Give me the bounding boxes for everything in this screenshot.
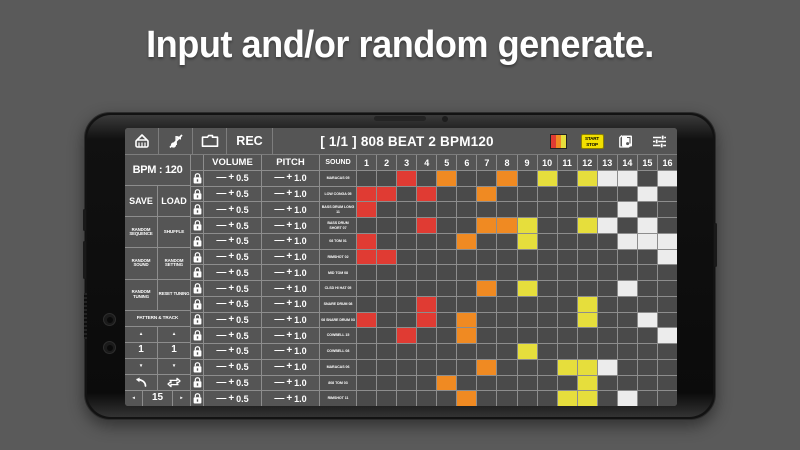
step-cell-2-14[interactable]: [618, 187, 638, 202]
pitch-minus-button[interactable]: —: [274, 346, 284, 356]
pitch-control[interactable]: —+1.0: [262, 360, 320, 375]
step-cell-14-2[interactable]: [377, 376, 397, 391]
step-cell-6-8[interactable]: [497, 250, 517, 265]
step-header-15[interactable]: 15: [638, 155, 658, 170]
volume-plus-button[interactable]: +: [228, 362, 234, 372]
lock-icon[interactable]: [191, 265, 204, 280]
step-cell-12-13[interactable]: [598, 344, 618, 359]
lock-icon[interactable]: [191, 328, 204, 343]
volume-plus-button[interactable]: +: [228, 284, 234, 294]
step-cell-11-10[interactable]: [538, 328, 558, 343]
sound-name-cell[interactable]: BASS DRUM LONG 11: [320, 202, 357, 217]
pitch-minus-button[interactable]: —: [274, 221, 284, 231]
step-header-16[interactable]: 16: [658, 155, 677, 170]
pitch-plus-button[interactable]: +: [286, 236, 292, 246]
step-cell-1-8[interactable]: [497, 171, 517, 186]
step-cell-13-3[interactable]: [397, 360, 417, 375]
volume-minus-button[interactable]: —: [216, 362, 226, 372]
step-cell-7-1[interactable]: [357, 265, 377, 280]
step-cell-11-14[interactable]: [618, 328, 638, 343]
pattern-up-arrow[interactable]: ▲: [125, 327, 158, 342]
random-sequence-button[interactable]: RANDOM SEQUENCE: [125, 217, 158, 247]
step-cell-7-15[interactable]: [638, 265, 658, 280]
random-sound-button[interactable]: RANDOM SOUND: [125, 248, 158, 278]
step-cell-5-14[interactable]: [618, 234, 638, 249]
step-cell-6-11[interactable]: [558, 250, 578, 265]
step-cell-5-12[interactable]: [578, 234, 598, 249]
step-cell-12-2[interactable]: [377, 344, 397, 359]
volume-plus-button[interactable]: +: [228, 346, 234, 356]
step-cell-4-15[interactable]: [638, 218, 658, 233]
step-cell-4-7[interactable]: [477, 218, 497, 233]
volume-minus-button[interactable]: —: [216, 331, 226, 341]
lock-icon[interactable]: [191, 376, 204, 391]
step-cell-14-11[interactable]: [558, 376, 578, 391]
step-cell-4-4[interactable]: [417, 218, 437, 233]
step-cell-13-9[interactable]: [518, 360, 538, 375]
step-cell-3-4[interactable]: [417, 202, 437, 217]
step-cell-13-5[interactable]: [437, 360, 457, 375]
step-cell-14-15[interactable]: [638, 376, 658, 391]
step-cell-8-5[interactable]: [437, 281, 457, 296]
step-cell-4-9[interactable]: [518, 218, 538, 233]
volume-plus-button[interactable]: +: [228, 189, 234, 199]
step-header-8[interactable]: 8: [497, 155, 517, 170]
page-next-button[interactable]: ▸: [173, 391, 190, 406]
pitch-plus-button[interactable]: +: [286, 221, 292, 231]
step-cell-10-5[interactable]: [437, 313, 457, 328]
step-cell-13-13[interactable]: [598, 360, 618, 375]
sound-name-cell[interactable]: LOW CONGA 05: [320, 187, 357, 202]
step-cell-10-8[interactable]: [497, 313, 517, 328]
step-cell-5-16[interactable]: [658, 234, 677, 249]
random-tuning-button[interactable]: RANDOM TUNING: [125, 280, 158, 310]
pitch-minus-button[interactable]: —: [274, 268, 284, 278]
step-cell-7-14[interactable]: [618, 265, 638, 280]
step-cell-12-1[interactable]: [357, 344, 377, 359]
sound-name-cell[interactable]: CLSD HI HAT 05: [320, 281, 357, 296]
volume-minus-button[interactable]: —: [216, 236, 226, 246]
step-cell-4-6[interactable]: [457, 218, 477, 233]
sound-name-cell[interactable]: RIMSHOT 11: [320, 391, 357, 406]
sound-name-cell[interactable]: 808 TOM 03: [320, 376, 357, 391]
step-cell-8-8[interactable]: [497, 281, 517, 296]
volume-down-button[interactable]: [83, 241, 86, 279]
volume-minus-button[interactable]: —: [216, 252, 226, 262]
step-cell-6-1[interactable]: [357, 250, 377, 265]
step-cell-11-7[interactable]: [477, 328, 497, 343]
step-cell-1-6[interactable]: [457, 171, 477, 186]
step-cell-10-4[interactable]: [417, 313, 437, 328]
step-cell-5-13[interactable]: [598, 234, 618, 249]
step-cell-7-4[interactable]: [417, 265, 437, 280]
step-cell-2-2[interactable]: [377, 187, 397, 202]
volume-plus-button[interactable]: +: [228, 315, 234, 325]
step-cell-2-3[interactable]: [397, 187, 417, 202]
step-cell-1-16[interactable]: [658, 171, 677, 186]
step-cell-9-1[interactable]: [357, 297, 377, 312]
step-cell-10-15[interactable]: [638, 313, 658, 328]
sound-name-cell[interactable]: BASS DRUM SHORT 07: [320, 218, 357, 233]
step-cell-3-12[interactable]: [578, 202, 598, 217]
step-cell-7-9[interactable]: [518, 265, 538, 280]
volume-control[interactable]: —+0.5: [204, 234, 262, 249]
step-cell-15-8[interactable]: [497, 391, 517, 406]
lock-icon[interactable]: [191, 313, 204, 328]
color-palette-icon[interactable]: [541, 128, 575, 154]
step-cell-15-15[interactable]: [638, 391, 658, 406]
step-cell-12-3[interactable]: [397, 344, 417, 359]
step-cell-4-13[interactable]: [598, 218, 618, 233]
step-cell-2-16[interactable]: [658, 187, 677, 202]
load-button[interactable]: LOAD: [158, 186, 190, 216]
step-cell-10-3[interactable]: [397, 313, 417, 328]
settings-sliders-icon[interactable]: [643, 128, 677, 154]
step-cell-15-1[interactable]: [357, 391, 377, 406]
step-cell-10-12[interactable]: [578, 313, 598, 328]
step-cell-4-1[interactable]: [357, 218, 377, 233]
step-cell-4-5[interactable]: [437, 218, 457, 233]
step-cell-15-3[interactable]: [397, 391, 417, 406]
step-cell-6-5[interactable]: [437, 250, 457, 265]
step-cell-11-6[interactable]: [457, 328, 477, 343]
volume-plus-button[interactable]: +: [228, 268, 234, 278]
step-header-7[interactable]: 7: [477, 155, 497, 170]
mute-note-icon[interactable]: [159, 128, 193, 154]
pitch-control[interactable]: —+1.0: [262, 281, 320, 296]
step-cell-13-14[interactable]: [618, 360, 638, 375]
step-cell-9-8[interactable]: [497, 297, 517, 312]
step-cell-8-12[interactable]: [578, 281, 598, 296]
pitch-minus-button[interactable]: —: [274, 284, 284, 294]
step-cell-7-2[interactable]: [377, 265, 397, 280]
volume-control[interactable]: —+0.5: [204, 328, 262, 343]
step-cell-1-4[interactable]: [417, 171, 437, 186]
step-cell-10-6[interactable]: [457, 313, 477, 328]
step-cell-12-12[interactable]: [578, 344, 598, 359]
lock-icon[interactable]: [191, 281, 204, 296]
lock-icon[interactable]: [191, 171, 204, 186]
pattern-and-track-button[interactable]: PATTERN & TRACK: [125, 311, 190, 326]
step-cell-15-2[interactable]: [377, 391, 397, 406]
pitch-control[interactable]: —+1.0: [262, 313, 320, 328]
step-cell-11-13[interactable]: [598, 328, 618, 343]
start-stop-button[interactable]: START STOP: [575, 128, 609, 154]
step-cell-2-8[interactable]: [497, 187, 517, 202]
step-cell-2-12[interactable]: [578, 187, 598, 202]
rec-button[interactable]: REC: [227, 128, 273, 154]
page-prev-button[interactable]: ◂: [125, 391, 143, 406]
volume-plus-button[interactable]: +: [228, 394, 234, 404]
step-cell-4-8[interactable]: [497, 218, 517, 233]
step-cell-11-2[interactable]: [377, 328, 397, 343]
volume-minus-button[interactable]: —: [216, 189, 226, 199]
step-cell-11-15[interactable]: [638, 328, 658, 343]
lock-icon[interactable]: [191, 360, 204, 375]
step-cell-13-1[interactable]: [357, 360, 377, 375]
step-cell-9-6[interactable]: [457, 297, 477, 312]
pitch-plus-button[interactable]: +: [286, 394, 292, 404]
step-cell-5-7[interactable]: [477, 234, 497, 249]
track-up-arrow[interactable]: ▲: [158, 327, 190, 342]
step-cell-12-9[interactable]: [518, 344, 538, 359]
pitch-control[interactable]: —+1.0: [262, 344, 320, 359]
pitch-plus-button[interactable]: +: [286, 378, 292, 388]
step-header-2[interactable]: 2: [377, 155, 397, 170]
step-cell-10-9[interactable]: [518, 313, 538, 328]
sound-name-cell[interactable]: COWBELL 15: [320, 328, 357, 343]
volume-control[interactable]: —+0.5: [204, 391, 262, 406]
step-cell-5-10[interactable]: [538, 234, 558, 249]
step-cell-9-12[interactable]: [578, 297, 598, 312]
pitch-plus-button[interactable]: +: [286, 252, 292, 262]
step-cell-3-14[interactable]: [618, 202, 638, 217]
step-header-10[interactable]: 10: [538, 155, 558, 170]
step-cell-7-10[interactable]: [538, 265, 558, 280]
pitch-control[interactable]: —+1.0: [262, 265, 320, 280]
volume-minus-button[interactable]: —: [216, 299, 226, 309]
volume-minus-button[interactable]: —: [216, 268, 226, 278]
track-down-arrow[interactable]: ▼: [158, 359, 190, 374]
step-cell-6-16[interactable]: [658, 250, 677, 265]
step-cell-10-14[interactable]: [618, 313, 638, 328]
step-cell-12-5[interactable]: [437, 344, 457, 359]
step-header-6[interactable]: 6: [457, 155, 477, 170]
volume-control[interactable]: —+0.5: [204, 281, 262, 296]
volume-plus-button[interactable]: +: [228, 205, 234, 215]
step-cell-6-4[interactable]: [417, 250, 437, 265]
step-cell-7-6[interactable]: [457, 265, 477, 280]
step-cell-2-9[interactable]: [518, 187, 538, 202]
pitch-plus-button[interactable]: +: [286, 205, 292, 215]
step-cell-9-15[interactable]: [638, 297, 658, 312]
step-cell-4-16[interactable]: [658, 218, 677, 233]
pitch-minus-button[interactable]: —: [274, 394, 284, 404]
step-cell-1-1[interactable]: [357, 171, 377, 186]
lock-icon[interactable]: [191, 297, 204, 312]
step-cell-10-1[interactable]: [357, 313, 377, 328]
step-cell-14-1[interactable]: [357, 376, 377, 391]
pattern-down-arrow[interactable]: ▼: [125, 359, 158, 374]
step-cell-9-11[interactable]: [558, 297, 578, 312]
step-cell-12-8[interactable]: [497, 344, 517, 359]
step-cell-8-7[interactable]: [477, 281, 497, 296]
step-cell-8-9[interactable]: [518, 281, 538, 296]
step-cell-9-4[interactable]: [417, 297, 437, 312]
step-cell-1-9[interactable]: [518, 171, 538, 186]
step-cell-3-3[interactable]: [397, 202, 417, 217]
step-cell-6-6[interactable]: [457, 250, 477, 265]
lock-icon[interactable]: [191, 234, 204, 249]
step-cell-2-6[interactable]: [457, 187, 477, 202]
pitch-control[interactable]: —+1.0: [262, 376, 320, 391]
step-cell-9-5[interactable]: [437, 297, 457, 312]
pitch-minus-button[interactable]: —: [274, 205, 284, 215]
step-cell-11-12[interactable]: [578, 328, 598, 343]
step-cell-8-16[interactable]: [658, 281, 677, 296]
step-cell-11-5[interactable]: [437, 328, 457, 343]
step-cell-13-11[interactable]: [558, 360, 578, 375]
step-cell-3-5[interactable]: [437, 202, 457, 217]
step-cell-5-8[interactable]: [497, 234, 517, 249]
step-cell-14-3[interactable]: [397, 376, 417, 391]
volume-plus-button[interactable]: +: [228, 221, 234, 231]
step-cell-14-10[interactable]: [538, 376, 558, 391]
step-cell-14-9[interactable]: [518, 376, 538, 391]
volume-plus-button[interactable]: +: [228, 173, 234, 183]
step-cell-1-3[interactable]: [397, 171, 417, 186]
step-cell-7-3[interactable]: [397, 265, 417, 280]
step-cell-13-10[interactable]: [538, 360, 558, 375]
lock-icon[interactable]: [191, 344, 204, 359]
step-cell-6-2[interactable]: [377, 250, 397, 265]
step-cell-15-13[interactable]: [598, 391, 618, 406]
step-cell-12-6[interactable]: [457, 344, 477, 359]
step-cell-3-13[interactable]: [598, 202, 618, 217]
step-cell-11-3[interactable]: [397, 328, 417, 343]
volume-plus-button[interactable]: +: [228, 299, 234, 309]
step-cell-1-11[interactable]: [558, 171, 578, 186]
step-header-12[interactable]: 12: [578, 155, 598, 170]
lock-icon[interactable]: [191, 187, 204, 202]
step-cell-14-8[interactable]: [497, 376, 517, 391]
step-cell-5-5[interactable]: [437, 234, 457, 249]
volume-control[interactable]: —+0.5: [204, 360, 262, 375]
step-cell-13-12[interactable]: [578, 360, 598, 375]
step-cell-1-13[interactable]: [598, 171, 618, 186]
pitch-minus-button[interactable]: —: [274, 299, 284, 309]
step-cell-6-7[interactable]: [477, 250, 497, 265]
lock-icon[interactable]: [191, 250, 204, 265]
step-cell-11-11[interactable]: [558, 328, 578, 343]
bpm-display[interactable]: BPM : 120: [125, 155, 190, 185]
step-cell-15-10[interactable]: [538, 391, 558, 406]
lock-icon[interactable]: [191, 218, 204, 233]
step-cell-10-7[interactable]: [477, 313, 497, 328]
step-cell-8-15[interactable]: [638, 281, 658, 296]
step-cell-5-2[interactable]: [377, 234, 397, 249]
volume-minus-button[interactable]: —: [216, 284, 226, 294]
step-cell-4-10[interactable]: [538, 218, 558, 233]
step-cell-2-10[interactable]: [538, 187, 558, 202]
step-cell-9-9[interactable]: [518, 297, 538, 312]
pitch-plus-button[interactable]: +: [286, 315, 292, 325]
step-cell-8-10[interactable]: [538, 281, 558, 296]
step-cell-6-13[interactable]: [598, 250, 618, 265]
drum-kit-icon[interactable]: [125, 128, 159, 154]
volume-minus-button[interactable]: —: [216, 173, 226, 183]
step-cell-12-10[interactable]: [538, 344, 558, 359]
step-cell-3-11[interactable]: [558, 202, 578, 217]
undo-arrow-icon[interactable]: [125, 375, 158, 390]
step-cell-5-9[interactable]: [518, 234, 538, 249]
step-cell-11-8[interactable]: [497, 328, 517, 343]
pitch-minus-button[interactable]: —: [274, 173, 284, 183]
step-cell-12-11[interactable]: [558, 344, 578, 359]
step-cell-8-4[interactable]: [417, 281, 437, 296]
step-cell-14-13[interactable]: [598, 376, 618, 391]
volume-minus-button[interactable]: —: [216, 378, 226, 388]
pitch-minus-button[interactable]: —: [274, 378, 284, 388]
step-cell-3-10[interactable]: [538, 202, 558, 217]
pitch-plus-button[interactable]: +: [286, 331, 292, 341]
volume-control[interactable]: —+0.5: [204, 313, 262, 328]
step-cell-10-11[interactable]: [558, 313, 578, 328]
step-cell-10-10[interactable]: [538, 313, 558, 328]
step-cell-1-14[interactable]: [618, 171, 638, 186]
step-header-13[interactable]: 13: [598, 155, 618, 170]
step-cell-4-11[interactable]: [558, 218, 578, 233]
step-cell-13-8[interactable]: [497, 360, 517, 375]
step-cell-3-6[interactable]: [457, 202, 477, 217]
sound-name-cell[interactable]: 08 TOM 01: [320, 234, 357, 249]
pitch-control[interactable]: —+1.0: [262, 297, 320, 312]
step-cell-15-4[interactable]: [417, 391, 437, 406]
volume-control[interactable]: —+0.5: [204, 171, 262, 186]
sound-name-cell[interactable]: SNARE DRUM 08: [320, 297, 357, 312]
step-cell-1-10[interactable]: [538, 171, 558, 186]
step-cell-14-14[interactable]: [618, 376, 638, 391]
step-cell-1-5[interactable]: [437, 171, 457, 186]
step-cell-11-9[interactable]: [518, 328, 538, 343]
step-cell-14-5[interactable]: [437, 376, 457, 391]
pitch-minus-button[interactable]: —: [274, 315, 284, 325]
pitch-plus-button[interactable]: +: [286, 346, 292, 356]
save-button[interactable]: SAVE: [125, 186, 158, 216]
pitch-control[interactable]: —+1.0: [262, 250, 320, 265]
step-cell-12-15[interactable]: [638, 344, 658, 359]
step-cell-9-10[interactable]: [538, 297, 558, 312]
pitch-plus-button[interactable]: +: [286, 268, 292, 278]
step-cell-13-4[interactable]: [417, 360, 437, 375]
step-cell-12-4[interactable]: [417, 344, 437, 359]
step-cell-2-11[interactable]: [558, 187, 578, 202]
step-cell-4-2[interactable]: [377, 218, 397, 233]
step-cell-6-3[interactable]: [397, 250, 417, 265]
volume-control[interactable]: —+0.5: [204, 202, 262, 217]
step-cell-5-15[interactable]: [638, 234, 658, 249]
volume-control[interactable]: —+0.5: [204, 187, 262, 202]
volume-minus-button[interactable]: —: [216, 205, 226, 215]
sound-name-cell[interactable]: MARACAS 06: [320, 360, 357, 375]
reset-tuning-button[interactable]: RESET TUNING: [158, 280, 190, 310]
step-cell-11-4[interactable]: [417, 328, 437, 343]
step-cell-8-6[interactable]: [457, 281, 477, 296]
step-cell-3-15[interactable]: [638, 202, 658, 217]
volume-plus-button[interactable]: +: [228, 236, 234, 246]
volume-control[interactable]: —+0.5: [204, 297, 262, 312]
volume-control[interactable]: —+0.5: [204, 376, 262, 391]
step-cell-7-5[interactable]: [437, 265, 457, 280]
step-header-5[interactable]: 5: [437, 155, 457, 170]
step-header-4[interactable]: 4: [417, 155, 437, 170]
pitch-plus-button[interactable]: +: [286, 362, 292, 372]
step-cell-7-11[interactable]: [558, 265, 578, 280]
pitch-plus-button[interactable]: +: [286, 173, 292, 183]
pitch-minus-button[interactable]: —: [274, 236, 284, 246]
sound-name-cell[interactable]: MARACAS 05: [320, 171, 357, 186]
step-cell-8-1[interactable]: [357, 281, 377, 296]
step-cell-13-7[interactable]: [477, 360, 497, 375]
volume-plus-button[interactable]: +: [228, 252, 234, 262]
step-cell-14-12[interactable]: [578, 376, 598, 391]
pitch-control[interactable]: —+1.0: [262, 187, 320, 202]
step-cell-15-14[interactable]: [618, 391, 638, 406]
power-button[interactable]: [714, 223, 717, 267]
step-cell-10-2[interactable]: [377, 313, 397, 328]
volume-plus-button[interactable]: +: [228, 331, 234, 341]
step-cell-11-1[interactable]: [357, 328, 377, 343]
